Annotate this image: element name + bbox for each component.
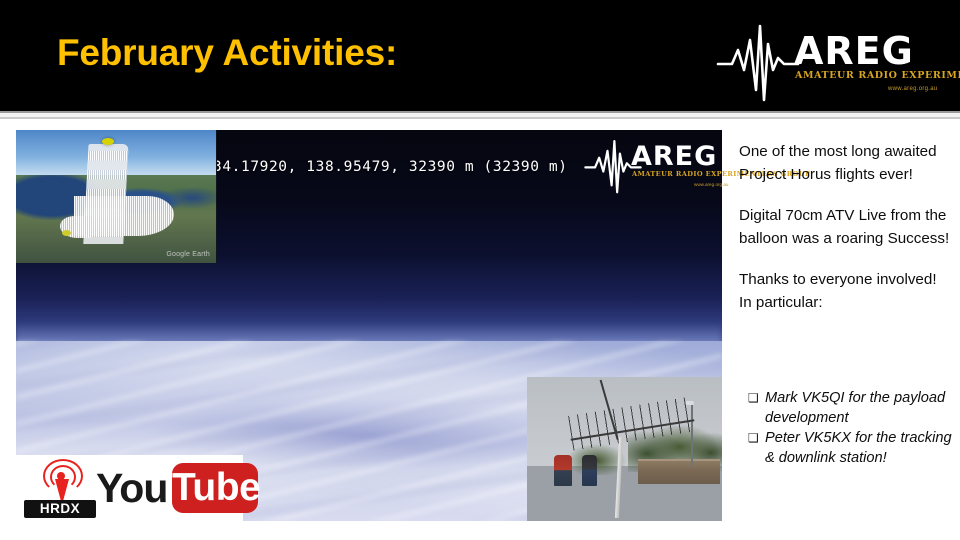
square-bullet-icon: ❑	[741, 428, 765, 448]
landing-marker-icon	[62, 230, 71, 236]
slide-header: February Activities: AREG AMATEUR RADIO …	[0, 0, 960, 111]
burst-marker-icon	[102, 138, 114, 145]
header-divider	[0, 111, 960, 119]
paragraph-atv: Digital 70cm ATV Live from the balloon w…	[739, 205, 951, 250]
youtube-you-text: You	[96, 465, 167, 511]
telemetry-overlay: 34.17920, 138.95479, 32390 m (32390 m)	[213, 159, 568, 175]
areg-wordmark: AREG	[631, 143, 717, 170]
page-title: February Activities:	[57, 32, 397, 74]
youtube-tube-box: Tube	[172, 463, 258, 513]
antenna-photo-inset[interactable]	[527, 377, 722, 521]
paragraph-intro: One of the most long awaited Project Hor…	[739, 141, 951, 186]
photo-person-dark-jacket	[582, 455, 598, 487]
body-text-column: One of the most long awaited Project Hor…	[739, 141, 951, 333]
areg-wordmark: AREG	[794, 32, 914, 70]
list-item-label: Mark VK5QI for the payload development	[765, 388, 956, 428]
square-bullet-icon: ❑	[741, 388, 765, 408]
list-item: ❑ Peter VK5KX for the tracking & downlin…	[741, 428, 956, 468]
areg-logo: AREG AMATEUR RADIO EXPERIMENTERS GROUP w…	[716, 14, 946, 100]
credits-bullet-list: ❑ Mark VK5QI for the payload development…	[741, 388, 956, 468]
paragraph-thanks: Thanks to everyone involved! In particul…	[739, 269, 951, 314]
youtube-tube-text: Tube	[172, 463, 258, 513]
areg-tagline: AMATEUR RADIO EXPERIMENTERS GROUP	[795, 70, 960, 81]
google-earth-attribution: Google Earth	[166, 251, 210, 258]
list-item: ❑ Mark VK5QI for the payload development	[741, 388, 956, 428]
youtube-channel-badge[interactable]: HRDX You Tube	[16, 455, 243, 521]
photo-person-red-jacket	[554, 455, 572, 487]
slide-canvas: February Activities: AREG AMATEUR RADIO …	[0, 0, 960, 540]
google-earth-inset[interactable]: Google Earth	[16, 130, 217, 263]
areg-url: www.areg.org.au	[694, 182, 728, 187]
list-item-label: Peter VK5KX for the tracking & downlink …	[765, 428, 956, 468]
areg-url: www.areg.org.au	[888, 86, 938, 92]
areg-logo-watermark: AREG AMATEUR RADIO EXPERIMENTERS GROUP w…	[584, 133, 724, 195]
hrdx-logo: HRDX	[24, 458, 96, 518]
waveform-icon	[716, 20, 800, 104]
hrdx-label: HRDX	[24, 500, 96, 518]
